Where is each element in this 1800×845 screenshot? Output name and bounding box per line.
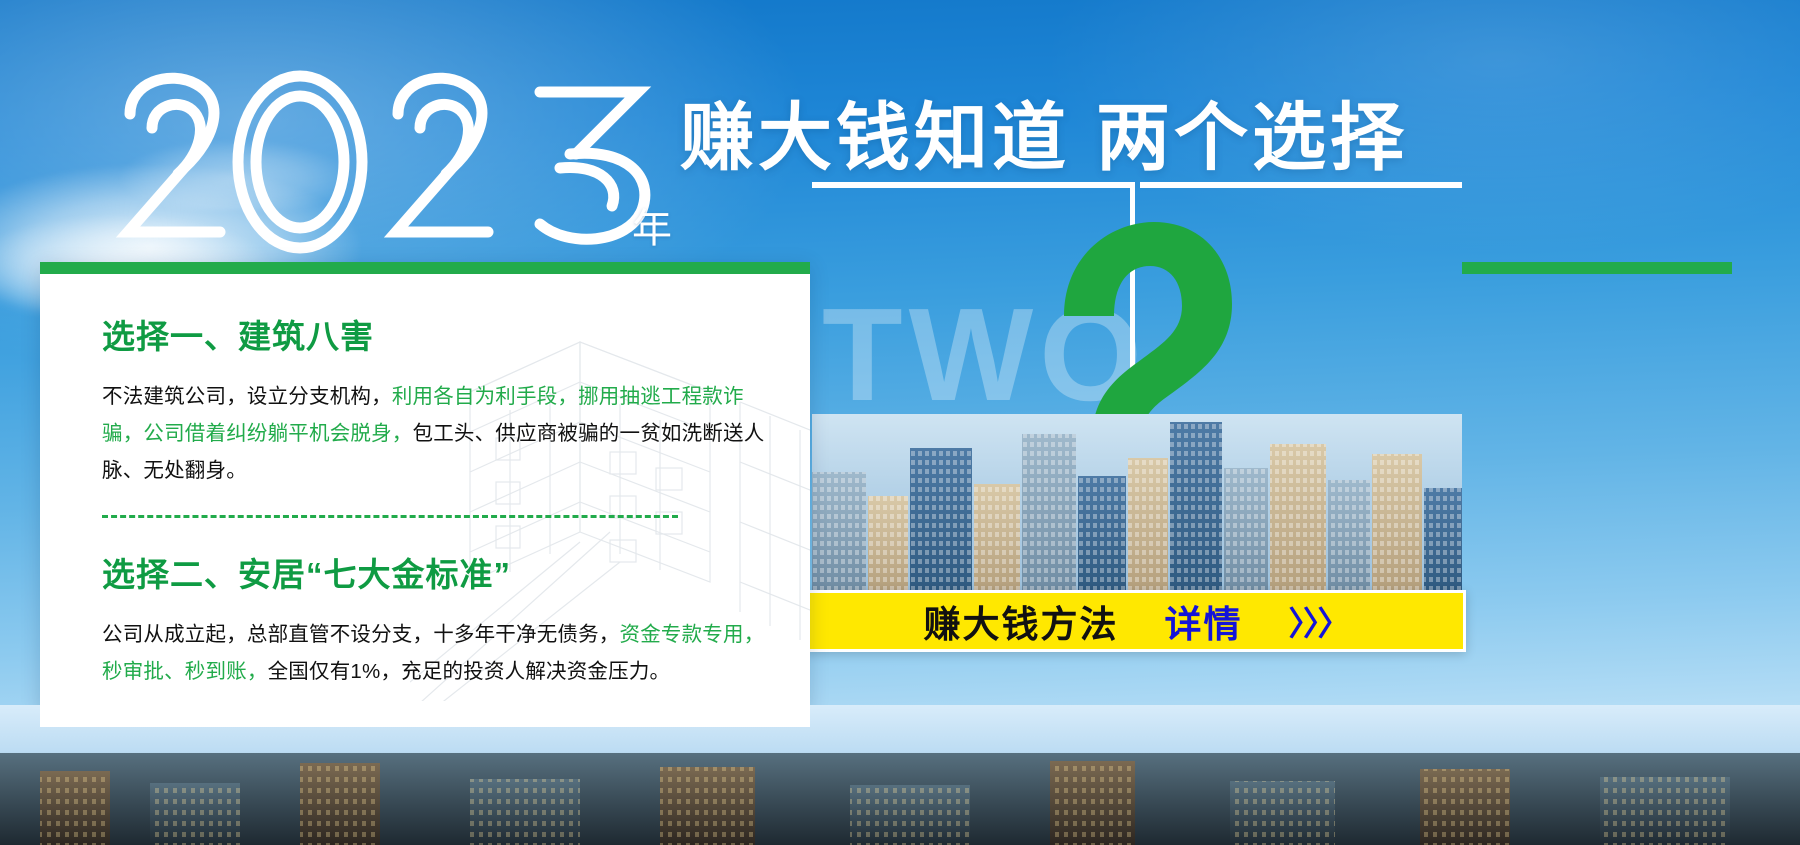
page-title: 赚大钱知道两个选择 (680, 78, 1408, 185)
content-card: 选择一、建筑八害 不法建筑公司，设立分支机构，利用各自为利手段，挪用抽逃工程款诈… (40, 262, 810, 710)
section-divider (102, 515, 678, 518)
body-2-part-c: 全国仅有1%，充足的投资人解决资金压力。 (268, 660, 671, 683)
section-title-1: 选择一、建筑八害 (102, 310, 780, 358)
cta-detail-label: 详情 (1165, 594, 1243, 648)
cloud-decoration (120, 140, 350, 210)
card-base-extension (40, 701, 810, 727)
body-1-part-a: 不法建筑公司，设立分支机构， (102, 385, 392, 408)
cta-button[interactable]: 赚大钱方法 详情 〉〉〉 (806, 590, 1466, 652)
section-title-2: 选择二、安居“七大金标准” (102, 548, 780, 596)
banner-stage: 年 赚大钱知道两个选择 TWO CHOICES (0, 0, 1800, 845)
city-skyline-photo (812, 414, 1462, 594)
section-body-2: 公司从成立起，总部直管不设分支，十多年干净无债务，资金专款专用，秒审批、秒到账，… (102, 616, 774, 690)
chevron-right-icon: 〉〉〉 (1289, 597, 1349, 645)
headline-part-2: 两个选择 (1096, 96, 1408, 179)
section-body-1: 不法建筑公司，设立分支机构，利用各自为利手段，挪用抽逃工程款诈骗，公司借着纠纷躺… (102, 378, 774, 489)
body-2-part-a: 公司从成立起，总部直管不设分支，十多年干净无债务， (102, 623, 620, 646)
card-top-bar (40, 262, 810, 274)
green-accent-bar (1462, 262, 1732, 274)
year-suffix-label: 年 (632, 196, 673, 254)
card-content: 选择一、建筑八害 不法建筑公司，设立分支机构，利用各自为利手段，挪用抽逃工程款诈… (102, 310, 780, 690)
cta-main-label: 赚大钱方法 (924, 594, 1119, 648)
headline-part-1: 赚大钱知道 (680, 96, 1070, 179)
